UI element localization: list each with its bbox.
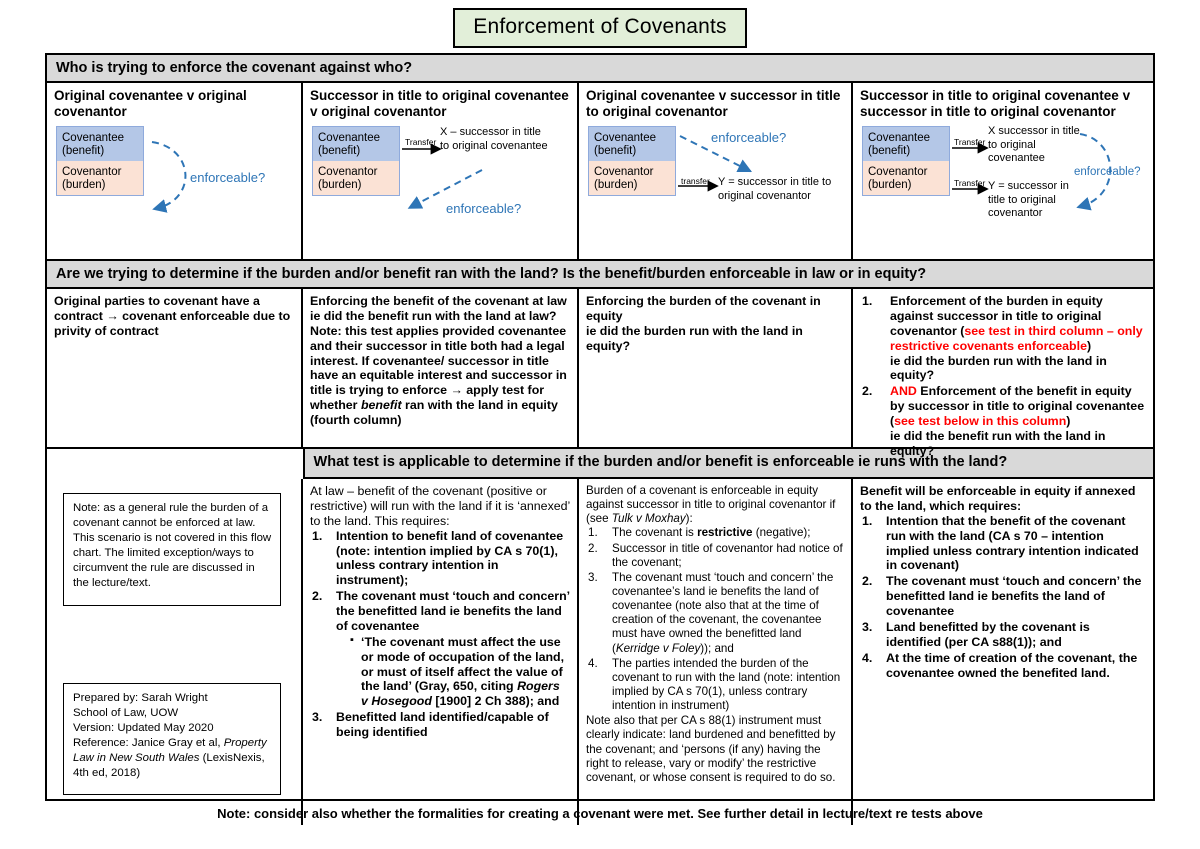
analysis-cell-1: Original parties to covenant have a cont… bbox=[47, 289, 303, 447]
test3-item: The covenant is restrictive (negative); bbox=[586, 526, 844, 540]
transfer-label-3: transfer bbox=[681, 176, 710, 186]
scenario-diagram-2: Covenantee (benefit) Covenantor (burden)… bbox=[310, 126, 570, 231]
scenario-diagram-4: Covenantee (benefit) Covenantor (burden)… bbox=[860, 126, 1146, 231]
successor-label-2: X – successor in title to original coven… bbox=[440, 126, 552, 154]
title-area: Enforcement of Covenants bbox=[0, 8, 1200, 48]
analysis-text-2-line1: Enforcing the benefit of the covenant at… bbox=[310, 294, 570, 309]
test-cell-3: Burden of a covenant is enforceable in e… bbox=[579, 479, 853, 825]
scenario-heading-1: Original covenantee v original covenanto… bbox=[54, 88, 294, 120]
test3-restrictive-bold: restrictive bbox=[697, 526, 752, 539]
scenario-heading-3: Original covenantee v successor in title… bbox=[586, 88, 844, 120]
sub-part-b: [1900] 2 Ch 388); and bbox=[432, 694, 559, 708]
test2-intro: At law – benefit of the covenant (positi… bbox=[310, 484, 570, 529]
scenario-row: Original covenantee v original covenanto… bbox=[47, 83, 1153, 261]
item2-black-b: ) bbox=[1066, 414, 1070, 428]
covenantee-benefit-box: Covenantee (benefit) bbox=[313, 127, 399, 161]
scenario-diagram-3: Covenantee (benefit) Covenantor (burden)… bbox=[586, 126, 844, 231]
scenario-cell-4: Successor in title to original covenante… bbox=[853, 83, 1153, 259]
section-header-who: Who is trying to enforce the covenant ag… bbox=[47, 55, 1153, 83]
enforceable-label-4: enforceable? bbox=[1074, 166, 1141, 178]
test3-item3-case: Kerridge v Foley bbox=[616, 642, 700, 655]
scenario-cell-2: Successor in title to original covenante… bbox=[303, 83, 579, 259]
covenantor-burden-box: Covenantor (burden) bbox=[863, 161, 949, 195]
test3-item: Successor in title of covenantor had not… bbox=[586, 542, 844, 570]
analysis-text-2-line2: ie did the benefit run with the land at … bbox=[310, 309, 570, 324]
scenario-heading-2: Successor in title to original covenante… bbox=[310, 88, 570, 120]
analysis-row: Original parties to covenant have a cont… bbox=[47, 289, 1153, 449]
credits-box: Prepared by: Sarah Wright School of Law,… bbox=[63, 683, 281, 795]
test-cell-2: At law – benefit of the covenant (positi… bbox=[303, 479, 579, 825]
covenantee-benefit-box: Covenantee (benefit) bbox=[863, 127, 949, 161]
covenantee-benefit-box: Covenantee (benefit) bbox=[589, 127, 675, 161]
item1-tail: ie did the burden run with the land in e… bbox=[890, 354, 1146, 384]
test3-case-name: Tulk v Moxhay bbox=[612, 512, 686, 525]
successor-label-4-top: X successor in title to original covenan… bbox=[988, 125, 1080, 166]
test-cell-4: Benefit will be enforceable in equity if… bbox=[853, 479, 1153, 825]
analysis-text-1: Original parties to covenant have a cont… bbox=[54, 294, 294, 339]
test2-item: Intention to benefit land of covenantee … bbox=[310, 529, 570, 589]
test3-item: The parties intended the burden of the c… bbox=[586, 657, 844, 714]
credits-reference: Reference: Janice Gray et al, Property L… bbox=[73, 736, 272, 781]
test3-item: The covenant must ‘touch and concern’ th… bbox=[586, 571, 844, 656]
covenantor-burden-box: Covenantor (burden) bbox=[589, 161, 675, 195]
scenario-diagram-1: Covenantee (benefit) Covenantor (burden)… bbox=[54, 126, 294, 231]
enforceable-label-1: enforceable? bbox=[190, 170, 265, 185]
test3-intro-b: ): bbox=[686, 512, 693, 525]
party-stack-4: Covenantee (benefit) Covenantor (burden) bbox=[862, 126, 950, 196]
party-stack-3: Covenantee (benefit) Covenantor (burden) bbox=[588, 126, 676, 196]
test2-list: Intention to benefit land of covenantee … bbox=[310, 529, 570, 740]
item2-tail: ie did the benefit run with the land in … bbox=[890, 429, 1146, 459]
credits-prepared-by: Prepared by: Sarah Wright bbox=[73, 691, 272, 706]
item2-red: see test below in this column bbox=[894, 414, 1066, 428]
credits-school: School of Law, UOW bbox=[73, 706, 272, 721]
test3-intro: Burden of a covenant is enforceable in e… bbox=[586, 484, 844, 526]
covenantor-burden-box: Covenantor (burden) bbox=[313, 161, 399, 195]
reference-part-a: Reference: Janice Gray et al, bbox=[73, 737, 224, 749]
analysis-text-3-line1: Enforcing the burden of the covenant in … bbox=[586, 294, 844, 324]
page-title: Enforcement of Covenants bbox=[453, 8, 746, 48]
test2-subitem: ‘The covenant must affect the use or mod… bbox=[350, 635, 570, 709]
item2-red-lead: AND bbox=[890, 384, 917, 398]
test4-intro: Benefit will be enforceable in equity if… bbox=[860, 484, 1146, 514]
test2-item2-text: The covenant must ‘touch and concern’ th… bbox=[336, 589, 569, 633]
test4-item: Intention that the benefit of the covena… bbox=[860, 514, 1146, 574]
covenantee-benefit-box: Covenantee (benefit) bbox=[57, 127, 143, 161]
test2-item: Benefitted land identified/capable of be… bbox=[310, 710, 570, 740]
analysis-text-2-note: Note: this test applies provided covenan… bbox=[310, 324, 570, 428]
note-emphasis: benefit bbox=[361, 398, 402, 412]
scenario-cell-1: Original covenantee v original covenanto… bbox=[47, 83, 303, 259]
test4-item: At the time of creation of the covenant,… bbox=[860, 651, 1146, 681]
test3-item3-tail: )); and bbox=[700, 642, 734, 655]
test3-note: Note also that per CA s 88(1) instrument… bbox=[586, 714, 844, 785]
transfer-label-4-top: Transfer bbox=[954, 137, 985, 147]
successor-label-3: Y = successor in title to original coven… bbox=[718, 176, 836, 204]
successor-label-4-bottom: Y = successor in title to original coven… bbox=[988, 180, 1080, 221]
test3-list: The covenant is restrictive (negative); … bbox=[586, 526, 844, 713]
enforceable-label-2: enforceable? bbox=[446, 201, 521, 216]
scenario-cell-3: Original covenantee v successor in title… bbox=[579, 83, 853, 259]
analysis-list-item: AND Enforcement of the benefit in equity… bbox=[860, 384, 1146, 458]
test4-item: Land benefitted by the covenant is ident… bbox=[860, 620, 1146, 650]
test4-item: The covenant must ‘touch and concern’ th… bbox=[860, 574, 1146, 619]
party-stack-2: Covenantee (benefit) Covenantor (burden) bbox=[312, 126, 400, 196]
analysis-list-item: Enforcement of the burden in equity agai… bbox=[860, 294, 1146, 383]
covenantor-burden-box: Covenantor (burden) bbox=[57, 161, 143, 195]
test2-item: The covenant must ‘touch and concern’ th… bbox=[310, 589, 570, 709]
spacer-cell bbox=[47, 449, 305, 479]
test4-list: Intention that the benefit of the covena… bbox=[860, 514, 1146, 681]
test2-sublist: ‘The covenant must affect the use or mod… bbox=[336, 635, 570, 709]
analysis-cell-4: Enforcement of the burden in equity agai… bbox=[853, 289, 1153, 447]
footer-note: Note: consider also whether the formalit… bbox=[0, 806, 1200, 821]
analysis-list-4: Enforcement of the burden in equity agai… bbox=[860, 294, 1146, 459]
transfer-label-2: Transfer bbox=[405, 137, 436, 147]
credits-version: Version: Updated May 2020 bbox=[73, 721, 272, 736]
item1-black-b: ) bbox=[1087, 339, 1091, 353]
section-header-determine: Are we trying to determine if the burden… bbox=[47, 261, 1153, 289]
analysis-cell-3: Enforcing the burden of the covenant in … bbox=[579, 289, 853, 447]
scenario-heading-4: Successor in title to original covenante… bbox=[860, 88, 1146, 120]
party-stack-1: Covenantee (benefit) Covenantor (burden) bbox=[56, 126, 144, 196]
flowchart-page: Enforcement of Covenants Who is trying t… bbox=[0, 0, 1200, 849]
general-note-box: Note: as a general rule the burden of a … bbox=[63, 493, 281, 606]
analysis-cell-2: Enforcing the benefit of the covenant at… bbox=[303, 289, 579, 447]
analysis-text-3-line2: ie did the burden run with the land in e… bbox=[586, 324, 844, 354]
transfer-label-4-bottom: Transfer bbox=[954, 178, 985, 188]
enforceable-label-3: enforceable? bbox=[711, 130, 786, 145]
